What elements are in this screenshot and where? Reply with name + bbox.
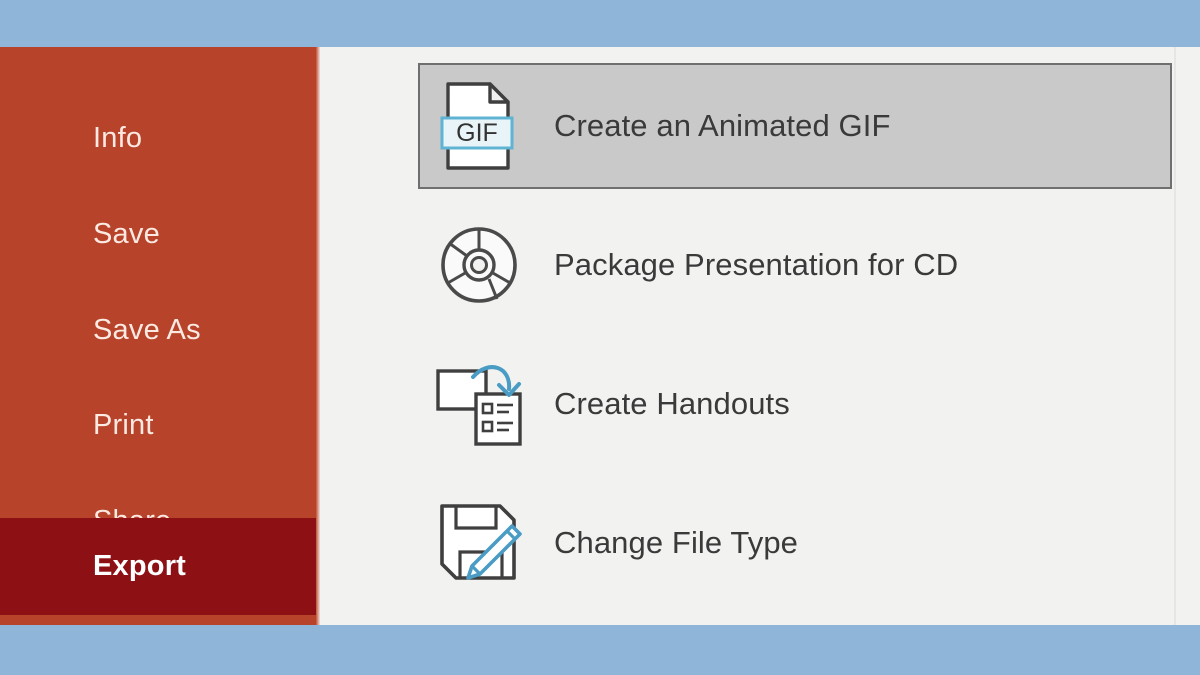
sidebar-item-label: Save — [93, 218, 160, 251]
export-option-label: Change File Type — [538, 525, 798, 561]
gif-file-icon: GIF — [420, 76, 538, 176]
pane-divider — [1174, 47, 1176, 625]
export-option-change-file-type[interactable]: Change File Type — [418, 480, 1172, 606]
letterbox-frame: Info Save Save As Print Share Export — [0, 0, 1200, 675]
handouts-icon — [420, 354, 538, 454]
sidebar-item-label: Info — [93, 122, 142, 155]
sidebar-item-print[interactable]: Print — [0, 397, 316, 453]
export-option-label: Create Handouts — [538, 386, 790, 422]
change-file-type-icon — [420, 493, 538, 593]
export-options-pane: GIF Create an Animated GIF — [320, 47, 1200, 625]
sidebar-item-label: Export — [93, 550, 186, 583]
sidebar-item-save[interactable]: Save — [0, 206, 316, 262]
cd-disc-icon — [420, 215, 538, 315]
export-option-create-animated-gif[interactable]: GIF Create an Animated GIF — [418, 63, 1172, 189]
sidebar-item-save-as[interactable]: Save As — [0, 302, 316, 358]
backstage-view: Info Save Save As Print Share Export — [0, 47, 1200, 625]
export-option-label: Create an Animated GIF — [538, 108, 890, 144]
sidebar-item-label: Save As — [93, 314, 201, 347]
sidebar-item-info[interactable]: Info — [0, 110, 316, 166]
backstage-sidebar: Info Save Save As Print Share Export — [0, 47, 320, 625]
export-option-create-handouts[interactable]: Create Handouts — [418, 341, 1172, 467]
sidebar-item-label: Print — [93, 409, 154, 442]
svg-text:GIF: GIF — [456, 119, 498, 147]
export-option-label: Package Presentation for CD — [538, 247, 958, 283]
sidebar-item-export[interactable]: Export — [0, 518, 316, 615]
export-option-package-presentation-for-cd[interactable]: Package Presentation for CD — [418, 202, 1172, 328]
